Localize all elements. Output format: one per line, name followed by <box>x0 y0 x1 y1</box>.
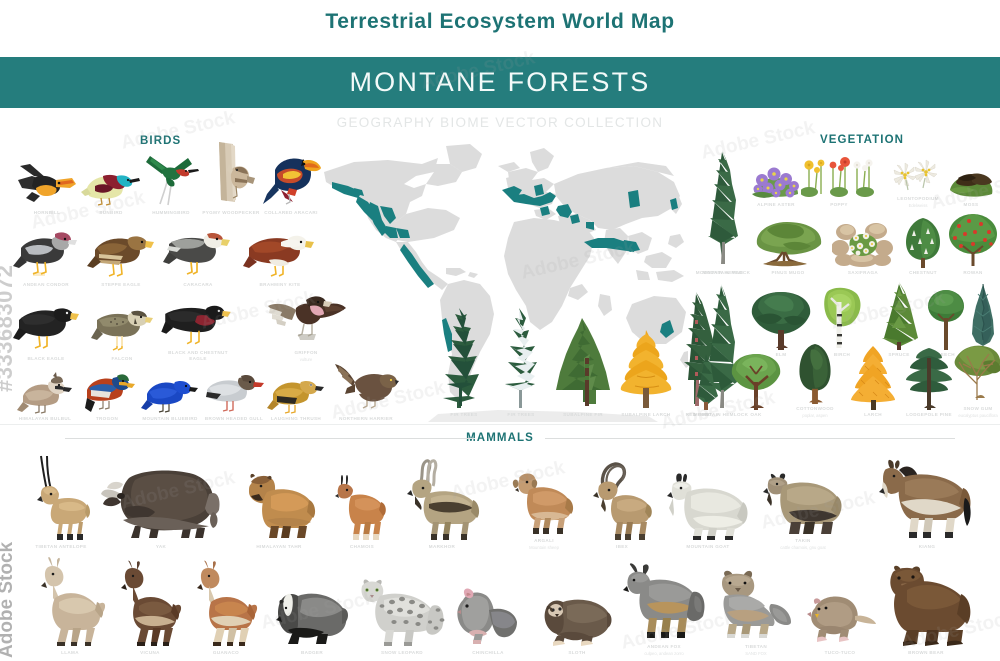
tibetan-antelope-icon <box>29 454 93 542</box>
northern-harrier-icon <box>333 364 399 414</box>
oak-tree-icon <box>728 352 784 410</box>
chinchilla-icon <box>455 586 521 648</box>
specimen-plant-lodgepole-pine: LODGEPOLE PINE <box>900 344 958 418</box>
specimen-bird-trogon: TROGON <box>74 364 140 422</box>
specimen-tree-subalpine-fir: SUBALPINE FIR <box>550 312 616 418</box>
caption: FIR <box>702 412 710 418</box>
snow-gum-icon <box>953 342 1000 404</box>
caption: LLAMA <box>61 650 79 656</box>
specimen-plant-rowan: ROWAN <box>946 210 1000 276</box>
caption: HIMALAYAN BULBUL <box>19 416 71 422</box>
caption: TIBETAN ANTELOPE <box>35 544 86 550</box>
himalayan-bulbul-icon <box>17 372 73 414</box>
caption: PINUS MUGO <box>771 270 804 276</box>
caption: FALCON <box>112 356 133 362</box>
specimen-bird-griffon-vulture: GRIFFON vulture <box>264 290 348 362</box>
caption: SNOW LEOPARD <box>381 650 423 656</box>
pinus-mugo-icon <box>749 214 827 268</box>
saxifraga-icon <box>832 218 894 268</box>
specimen-mammal-takin: TAKIN cattle chamois, gnu goat <box>758 464 848 550</box>
specimen-mammal-tibetan-sand-fox: TIBETAN SAND FOX <box>714 566 798 656</box>
specimen-plant-snow-gum: SNOW GUM eucalyptus pauciflora <box>952 342 1000 418</box>
edelweiss-icon <box>892 158 944 194</box>
specimen-plant-pinus-mugo: PINUS MUGO <box>748 212 828 276</box>
infographic-poster: Terrestrial Ecosystem World Map MONTANE … <box>0 0 1000 661</box>
ibex-icon <box>589 460 655 542</box>
mountain-bluebird-icon <box>141 374 199 414</box>
caption: LODGEPOLE PINE <box>906 412 952 418</box>
subalpine-fir-icon <box>554 318 612 410</box>
biome-title: MONTANE FORESTS <box>0 67 1000 98</box>
brown-bear-icon <box>875 564 977 648</box>
specimen-bird-brahminy-kite: BRAHMINY KITE <box>240 224 320 288</box>
takin-icon <box>761 464 845 536</box>
specimen-mammal-llama: LLAMA <box>30 552 110 656</box>
specimen-mammal-brown-bear: BROWN BEAR <box>872 558 980 656</box>
specimen-bird-falcon: FALCON <box>88 300 156 362</box>
specimen-bird-collared-aracari: COLLARED ARACARI <box>256 142 326 216</box>
specimen-bird-mountain-bluebird: MOUNTAIN BLUEBIRD <box>136 370 204 422</box>
specimen-mammal-mountain-goat: MOUNTAIN GOAT <box>662 464 754 550</box>
caption: HORNBILL <box>34 210 61 216</box>
caption: MOUNTAIN BLUEBIRD <box>142 416 197 422</box>
specimen-plant-mountain-hemlock-label: MOUNTAIN HEMLOCK <box>694 228 752 276</box>
collection-subtitle: GEOGRAPHY BIOME VECTOR COLLECTION <box>0 115 1000 130</box>
specimen-mammal-kiang: KIANG <box>874 452 980 550</box>
specimen-bird-black-eagle: BLACK EAGLE <box>10 296 82 362</box>
specimen-bird-black-and-chestnut-eagle: BLACK AND CHESTNUT EAGLE <box>158 298 238 362</box>
specimen-bird-caracara: CARACARA <box>160 222 236 288</box>
caption: SUNBIRD <box>99 210 122 216</box>
caption: SAXIFRAGA <box>848 270 878 276</box>
specimen-mammal-chinchilla: CHINCHILLA <box>452 576 524 656</box>
black-eagle-icon <box>13 300 79 354</box>
caption: BRAHMINY KITE <box>260 282 301 288</box>
caption: CHAMOIS <box>350 544 374 550</box>
tuco-tuco-icon <box>803 592 877 648</box>
snow-leopard-icon <box>358 576 446 648</box>
specimen-bird-northern-harrier: NORTHERN HARRIER <box>330 360 402 422</box>
watermark-stock-name: Adobe Stock <box>0 542 18 658</box>
collared-aracari-icon <box>259 150 323 208</box>
caption: FIR TREES <box>507 412 534 418</box>
guanaco-icon <box>191 560 261 648</box>
himalayan-tahr-icon <box>241 468 317 542</box>
argali-icon <box>511 468 577 536</box>
markhor-icon <box>401 456 483 542</box>
caption: ROWAN <box>963 270 982 276</box>
specimen-mammal-vicuna: VICUNA <box>112 556 188 656</box>
chamois-icon <box>333 472 391 542</box>
brahminy-kite-icon <box>243 228 317 280</box>
caption: SUBALPINE LARCH <box>621 412 670 418</box>
specimen-bird-steppe-eagle: STEPPE EAGLE <box>84 224 158 288</box>
caption: TUCO-TUCO <box>825 650 856 656</box>
kiang-icon <box>877 456 977 542</box>
caption: BROWN HEADED GULL <box>205 416 263 422</box>
divider-top <box>0 424 1000 425</box>
caption-sub: cattle chamois, gnu goat <box>780 545 825 550</box>
mountain-goat-icon <box>665 468 751 542</box>
juniper-icon <box>964 284 1000 350</box>
specimen-mammal-ibex: IBEX <box>586 456 658 550</box>
caracara-icon <box>163 226 233 280</box>
specimen-bird-sunbird: SUNBIRD <box>78 156 144 216</box>
snow-fir-tree-icon <box>493 306 549 410</box>
specimen-mammal-argali: ARGALI Mountain sheep <box>508 468 580 550</box>
specimen-plant-alpine-aster: ALPINE ASTER <box>748 156 804 208</box>
caption: SUBALPINE FIR <box>563 412 603 418</box>
hornbill-icon <box>16 160 78 208</box>
specimen-plant-cottonwood: COTTONWOOD poplar, aspen <box>786 344 844 418</box>
specimen-bird-laughing-thrush: LAUGHING THRUSH <box>262 368 330 422</box>
caption: BLACK EAGLE <box>27 356 64 362</box>
cottonwood-icon <box>789 344 841 404</box>
specimen-mammal-andean-fox: ANDEAN FOX culpeo, andean zorro <box>618 560 710 656</box>
caption: GUANACO <box>213 650 239 656</box>
elm-tree-icon <box>748 288 814 350</box>
specimen-mammal-guanaco: GUANACO <box>188 556 264 656</box>
watermark-stock-id: #333683072 <box>0 265 18 392</box>
laughing-thrush-icon <box>267 372 325 414</box>
specimen-bird-hornbill: HORNBILL <box>14 148 80 216</box>
specimen-mammal-chamois: CHAMOIS <box>330 468 394 550</box>
vicuna-icon <box>115 560 185 648</box>
specimen-mammal-markhor: MARKHOR <box>398 452 486 550</box>
birch-tree-icon <box>815 286 869 350</box>
caption-sub: Edelweiss <box>909 203 928 208</box>
caption: MOSS <box>964 202 979 208</box>
caption: TROGON <box>96 416 118 422</box>
specimen-mammal-tuco-tuco: TUCO-TUCO <box>800 586 880 656</box>
caption: LARCH <box>864 412 882 418</box>
pygmy-woodpecker-icon <box>203 142 259 208</box>
caption-sub: poplar, aspen <box>802 413 827 418</box>
caption: ANDEAN CONDOR <box>23 282 69 288</box>
caption: HUMMINGBIRD <box>152 210 190 216</box>
specimen-mammal-himalayan-tahr: HIMALAYAN TAHR <box>238 464 320 550</box>
tibetan-sand-fox-icon <box>717 568 795 642</box>
specimen-tree-fir-trees-snow: FIR TREES <box>490 302 552 418</box>
caption: STEPPE EAGLE <box>101 282 140 288</box>
caption: VICUNA <box>140 650 160 656</box>
falcon-icon <box>91 304 153 354</box>
specimen-bird-andean-condor: ANDEAN CONDOR <box>8 222 84 288</box>
divider-left <box>65 438 475 439</box>
specimen-mammal-yak: YAK <box>98 460 224 550</box>
caption-sub: vulture <box>300 357 313 362</box>
chestnut-tree-icon <box>898 216 948 268</box>
brown-headed-gull-icon <box>203 370 265 414</box>
fir-trees-icon <box>435 302 493 410</box>
rowan-tree-icon <box>947 212 999 268</box>
specimen-plant-larch: LARCH <box>844 342 902 418</box>
specimen-plant-saxifraga: SAXIFRAGA <box>830 216 896 276</box>
caption-sub: culpeo, andean zorro <box>644 651 683 656</box>
caption: BROWN BEAR <box>908 650 944 656</box>
yak-icon <box>101 464 221 542</box>
caption: SLOTH <box>568 650 585 656</box>
caption: COLLARED ARACARI <box>264 210 317 216</box>
section-heading-vegetation: VEGETATION <box>820 134 904 146</box>
caption: POPPY <box>830 202 848 208</box>
specimen-mammal-badger: BADGER <box>272 578 352 656</box>
specimen-plant-moss: MOSS <box>944 158 998 208</box>
specimen-bird-hummingbird: HUMMINGBIRD <box>140 146 202 216</box>
specimen-plant-chestnut: CHESTNUT <box>896 214 950 276</box>
subalpine-larch-icon <box>617 330 675 410</box>
sunbird-icon <box>81 166 141 208</box>
griffon-vulture-icon <box>266 290 346 348</box>
caption: IBEX <box>616 544 628 550</box>
caption-sub: Mountain sheep <box>529 545 559 550</box>
specimen-plant-poppy: POPPY <box>800 152 878 208</box>
lodgepole-pine-icon <box>902 348 956 410</box>
page-title: Terrestrial Ecosystem World Map <box>0 10 1000 34</box>
specimen-plant-fir: FIR <box>684 348 728 418</box>
divider-right <box>545 438 955 439</box>
fir-icon <box>686 352 726 410</box>
caption: PYGMY WOODPECKER <box>202 210 259 216</box>
badger-icon <box>274 586 350 648</box>
caption: FIR TREES <box>450 412 477 418</box>
caption: MARKHOR <box>429 544 455 550</box>
black-and-chestnut-eagle-icon <box>161 298 235 348</box>
caption: NORTHERN HARRIER <box>339 416 393 422</box>
moss-icon <box>946 166 996 200</box>
larch-icon <box>847 346 899 410</box>
specimen-tree-fir-trees: FIR TREES <box>432 296 496 418</box>
caption: KIANG <box>919 544 936 550</box>
hummingbird-icon <box>142 152 200 208</box>
caption-sub: eucalyptus pauciflora <box>958 413 997 418</box>
caption: OAK <box>750 412 761 418</box>
spruce-tree-icon <box>868 282 930 350</box>
specimen-mammal-tibetan-antelope: TIBETAN ANTELOPE <box>26 450 96 550</box>
andean-condor-icon <box>11 226 81 280</box>
specimen-mammal-snow-leopard: SNOW LEOPARD <box>356 570 448 656</box>
trogon-icon <box>79 368 135 414</box>
caption: YAK <box>156 544 166 550</box>
caption: BADGER <box>301 650 323 656</box>
caption: CARACARA <box>183 282 212 288</box>
llama-icon <box>33 556 107 648</box>
poppy-icon <box>801 154 877 200</box>
specimen-plant-leontopodium: LEONTOPODIUM Edelweiss <box>890 156 946 208</box>
specimen-bird-brown-headed-gull: BROWN HEADED GULL <box>198 366 270 422</box>
caption: ALPINE ASTER <box>757 202 795 208</box>
caption: LAUGHING THRUSH <box>271 416 321 422</box>
specimen-mammal-sloth: SLOTH <box>538 580 616 656</box>
caption: HIMALAYAN TAHR <box>256 544 301 550</box>
caption-sub: SAND FOX <box>745 651 766 656</box>
alpine-aster-icon <box>750 160 802 200</box>
caption: CHINCHILLA <box>472 650 504 656</box>
andean-fox-icon <box>621 562 707 642</box>
caption: CHESTNUT <box>909 270 937 276</box>
specimen-plant-oak: OAK <box>726 348 786 418</box>
specimen-bird-himalayan-bulbul: HIMALAYAN BULBUL <box>12 368 78 422</box>
steppe-eagle-icon <box>87 228 155 280</box>
sloth-icon <box>541 590 613 648</box>
caption: MOUNTAIN GOAT <box>686 544 729 550</box>
caption: BLACK AND CHESTNUT EAGLE <box>166 350 230 362</box>
